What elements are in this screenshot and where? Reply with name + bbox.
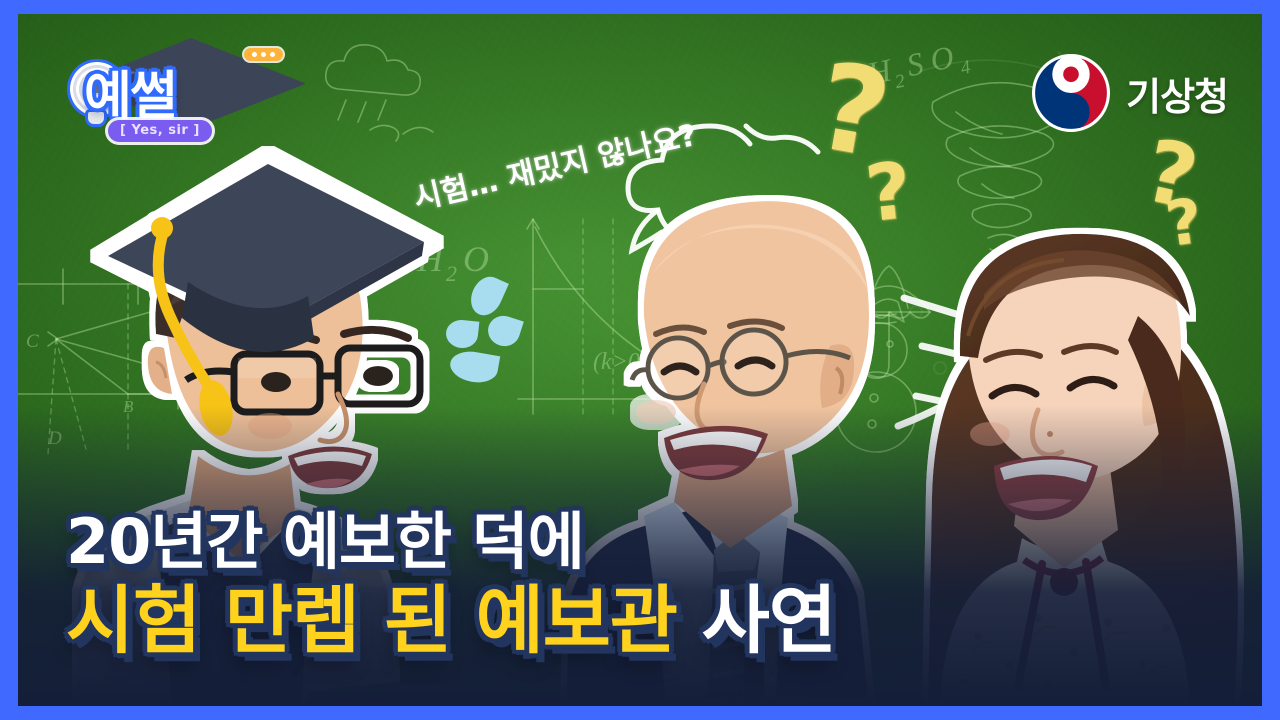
show-logo[interactable]: 예썰 [ Yes, sir ]: [74, 38, 294, 168]
brand-name: 기상청: [1126, 66, 1228, 121]
logo-subtitle: [ Yes, sir ]: [108, 120, 212, 142]
logo-wordmark: 예썰: [84, 54, 176, 129]
title-line-2: 시험 만렙 된 예보관 사연: [66, 582, 836, 662]
title-line-2-highlight: 시험 만렙 된 예보관: [66, 578, 677, 664]
taegeuk-logo: [1032, 54, 1110, 132]
title-block: 20년간 예보한 덕에 시험 만렙 된 예보관 사연: [66, 509, 836, 662]
thumbnail-inner: C D B E O H 2 O: [18, 14, 1262, 706]
title-line-2-tail: 사연: [702, 578, 836, 664]
brand-lockup: 기상청: [1032, 54, 1228, 132]
title-line-1: 20년간 예보한 덕에: [66, 509, 836, 576]
thumbnail-root: C D B E O H 2 O: [0, 0, 1280, 720]
ellipsis-bubble-icon: [244, 48, 283, 61]
